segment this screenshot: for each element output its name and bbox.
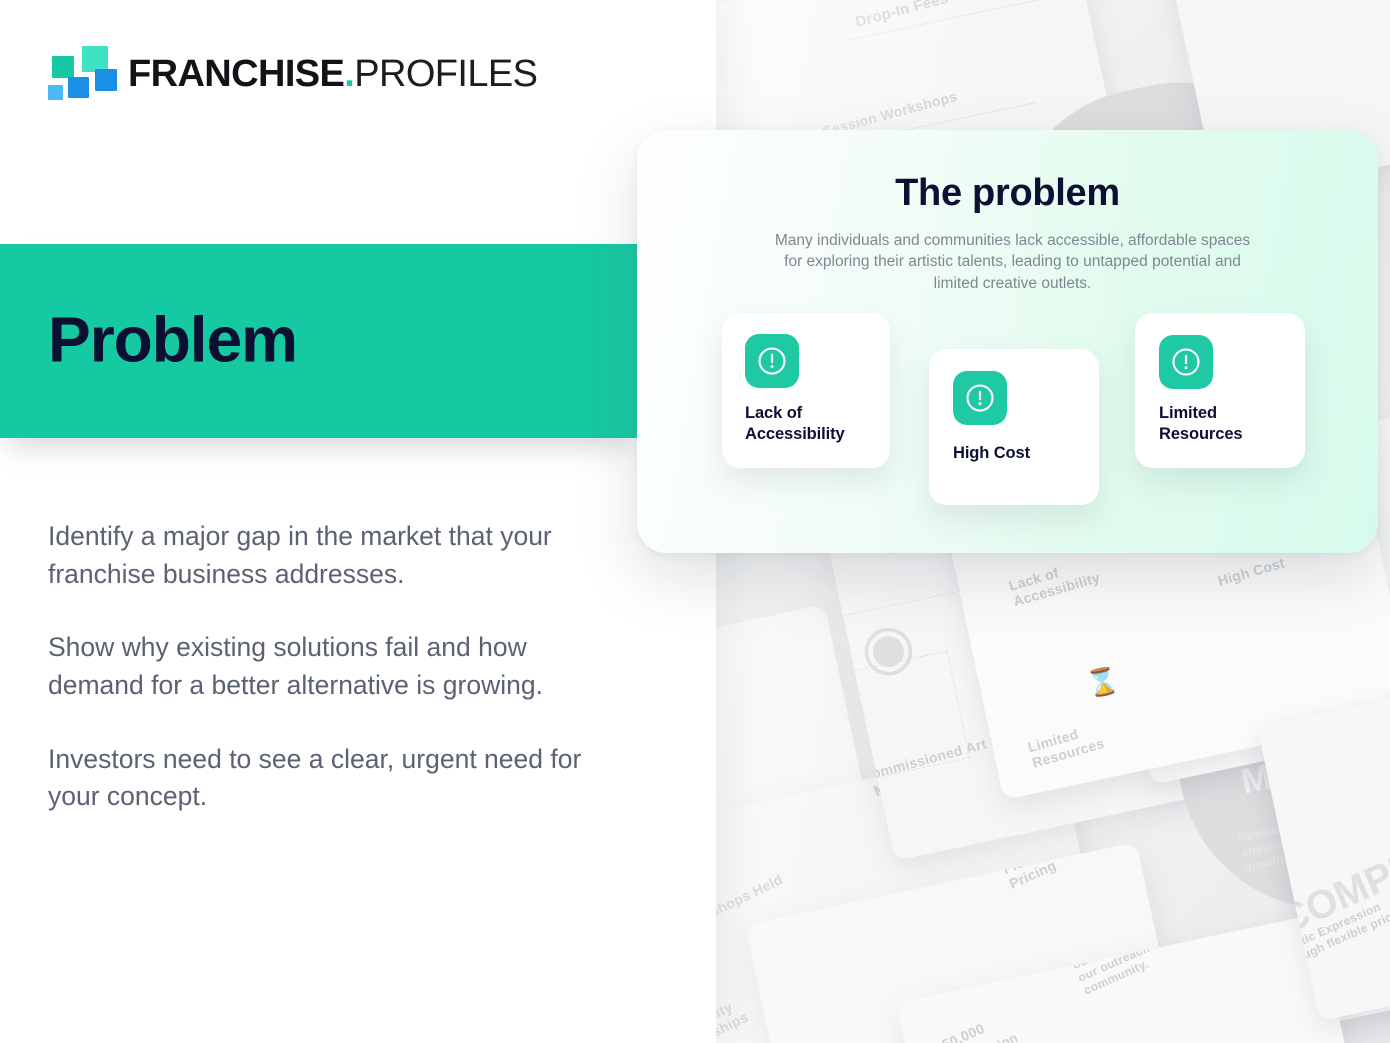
background-rule xyxy=(995,612,1210,659)
background-label: Revenue generation through diverse strea… xyxy=(1237,783,1390,876)
left-content-panel: FRANCHISE.PROFILES Identify a major gap … xyxy=(0,0,716,1043)
background-dashed-box xyxy=(830,650,970,783)
background-label: Session Workshops xyxy=(995,598,1133,649)
background-label: Community Partnerships xyxy=(715,981,778,1043)
background-label: Accessible Spaces xyxy=(1263,656,1320,660)
body-copy: Identify a major gap in the market that … xyxy=(48,518,618,816)
copy-paragraph-1: Identify a major gap in the market that … xyxy=(48,518,618,593)
section-banner: Problem xyxy=(0,244,640,438)
background-slide xyxy=(715,604,897,1025)
background-label: Space Expansion xyxy=(911,1030,1020,1043)
copy-paragraph-2: Show why existing solutions fail and how… xyxy=(48,629,618,704)
dollar-circle-icon: ◉ xyxy=(853,605,921,688)
problem-tile-label: High Cost xyxy=(953,443,1093,464)
background-label: Lack of Accessibility xyxy=(1007,548,1122,609)
problem-card-subtitle: Many individuals and communities lack ac… xyxy=(765,230,1260,294)
background-label: BUSINESS MODEL xyxy=(1230,685,1390,800)
background-label: $150,000 xyxy=(925,1020,987,1043)
slide-canvas: Drop-In Fees Session Workshops Commissio… xyxy=(0,0,1390,1043)
background-label: Workshops Held xyxy=(715,871,785,936)
brand-name-dot: . xyxy=(344,53,354,95)
background-label: High Cost xyxy=(1216,554,1287,588)
background-dashed-box xyxy=(715,0,726,109)
background-rule xyxy=(849,0,1045,40)
background-slide: Accessible Spaces xyxy=(1263,656,1390,1024)
problem-tile-lack-of-accessibility[interactable]: Lack of Accessibility xyxy=(722,313,890,468)
background-slide: Flexible Pricing Professional Artists ⚙ … xyxy=(745,842,1205,1043)
brand-name-light: PROFILES xyxy=(354,53,537,95)
background-label: COMPETITION xyxy=(1273,790,1390,944)
exclamation-circle-icon xyxy=(745,334,799,388)
background-blob: BUSINESS MODEL Revenue generation throug… xyxy=(1144,543,1390,936)
problem-tile-label: Limited Resources xyxy=(1159,403,1299,445)
copy-paragraph-3: Investors need to see a clear, urgent ne… xyxy=(48,741,618,816)
background-slide: 1,000 Monthly Visitors Workshops Held Co… xyxy=(715,739,1125,1043)
page-title: Problem xyxy=(48,303,297,377)
hourglass-icon: ⌛ xyxy=(1084,664,1122,701)
problem-tile-limited-resources[interactable]: Limited Resources xyxy=(1135,313,1305,468)
background-slide: FUNDRAISING Securing investment to scale… xyxy=(896,914,1383,1043)
background-slide: COMPETITION Artistic Expression through … xyxy=(1257,659,1390,1021)
problem-card-title: The problem xyxy=(637,172,1378,215)
exclamation-circle-icon xyxy=(1159,335,1213,389)
brand-logo[interactable]: FRANCHISE.PROFILES xyxy=(48,44,537,104)
background-label: FUNDRAISING xyxy=(1099,914,1371,924)
background-label: Artistic Expression through flexible pri… xyxy=(1272,881,1390,972)
brand-name-bold: FRANCHISE xyxy=(128,53,344,95)
background-label: Securing investment to scale our operati… xyxy=(1064,914,1251,998)
background-label: Commissioned Art Sales xyxy=(860,725,1029,785)
background-label: Flexible Pricing xyxy=(1000,842,1095,892)
problem-tile-label: Lack of Accessibility xyxy=(745,403,880,445)
background-label: 1,000 xyxy=(761,739,829,784)
background-label: Monthly Visitors xyxy=(871,739,987,801)
problem-tile-high-cost[interactable]: High Cost xyxy=(929,349,1099,505)
squares-mark-icon xyxy=(48,44,110,104)
brand-wordmark: FRANCHISE.PROFILES xyxy=(128,55,537,93)
background-label: Drop-In Fees xyxy=(854,0,950,31)
exclamation-circle-icon xyxy=(953,371,1007,425)
background-label: Limited Resources xyxy=(1026,710,1141,771)
problem-preview-card[interactable]: The problem Many individuals and communi… xyxy=(637,130,1378,553)
